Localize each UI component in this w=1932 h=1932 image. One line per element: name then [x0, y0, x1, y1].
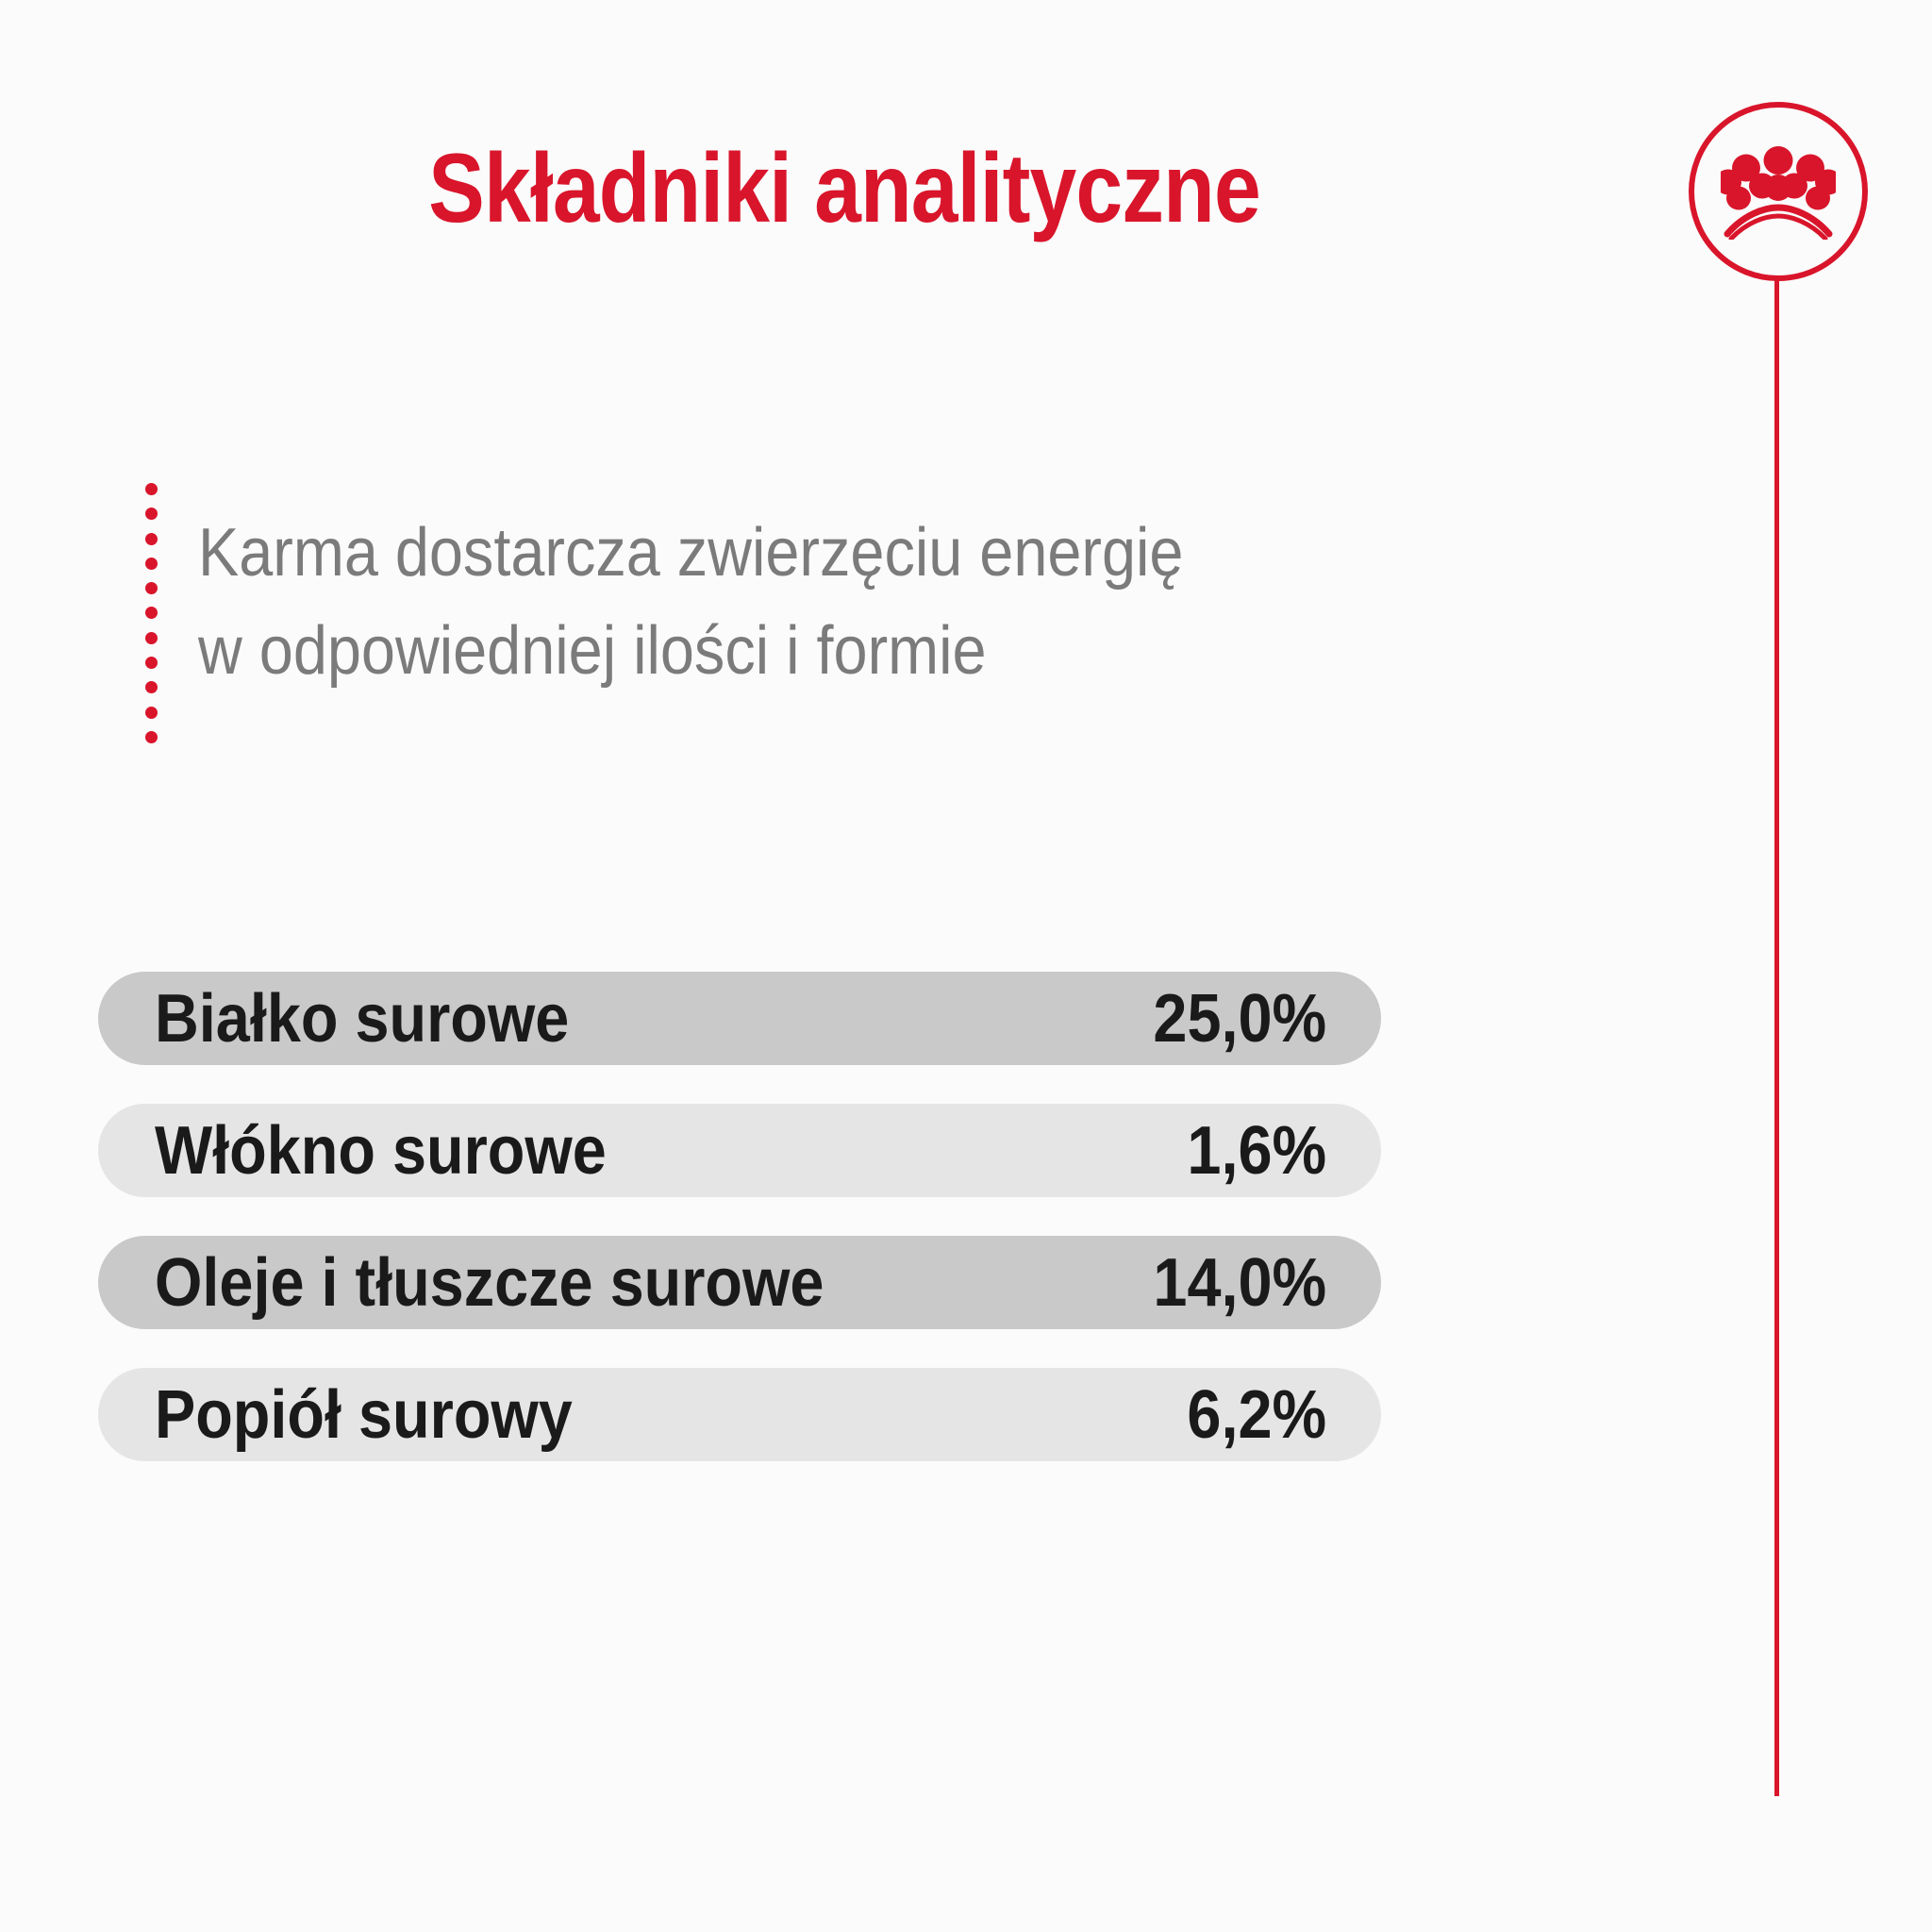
royal-canin-crown-icon [1721, 143, 1836, 240]
nutrient-value: 14,0% [1153, 1249, 1326, 1317]
table-row: Włókno surowe 1,6% [98, 1104, 1381, 1197]
logo-stem-line [1774, 279, 1779, 1796]
rule-dot [145, 681, 158, 693]
rule-dot [145, 483, 158, 495]
rule-dot [145, 508, 158, 520]
table-row: Popiół surowy 6,2% [98, 1368, 1381, 1461]
intro-line-2: w odpowiedniej ilości i formie [198, 602, 1251, 700]
nutrient-value: 1,6% [1187, 1117, 1326, 1185]
analytical-constituents-table: Białko surowe 25,0% Włókno surowe 1,6% O… [98, 972, 1381, 1461]
nutrient-label: Popiół surowy [155, 1381, 1070, 1449]
nutrient-value: 6,2% [1187, 1381, 1326, 1449]
nutrient-label: Białko surowe [155, 985, 1036, 1053]
rule-dot [145, 607, 158, 619]
rule-dot [145, 731, 158, 743]
rule-dot [145, 657, 158, 669]
nutrient-value: 25,0% [1153, 985, 1326, 1053]
intro-line-1: Karma dostarcza zwierzęciu energię [198, 504, 1251, 602]
intro-block: Karma dostarcza zwierzęciu energię w odp… [143, 483, 1370, 747]
nutrient-label: Włókno surowe [155, 1117, 1070, 1185]
rule-dot [145, 533, 158, 545]
rule-dot [145, 632, 158, 644]
page-title: Składniki analityczne [118, 140, 1570, 238]
rule-dot [145, 707, 158, 719]
rule-dot [145, 582, 158, 594]
table-row: Oleje i tłuszcze surowe 14,0% [98, 1236, 1381, 1329]
nutrient-label: Oleje i tłuszcze surowe [155, 1249, 1036, 1317]
brand-logo [1689, 102, 1868, 281]
intro-text: Karma dostarcza zwierzęciu energię w odp… [198, 504, 1251, 700]
table-row: Białko surowe 25,0% [98, 972, 1381, 1065]
rule-dot [145, 558, 158, 570]
dotted-vertical-rule-icon [143, 483, 158, 743]
